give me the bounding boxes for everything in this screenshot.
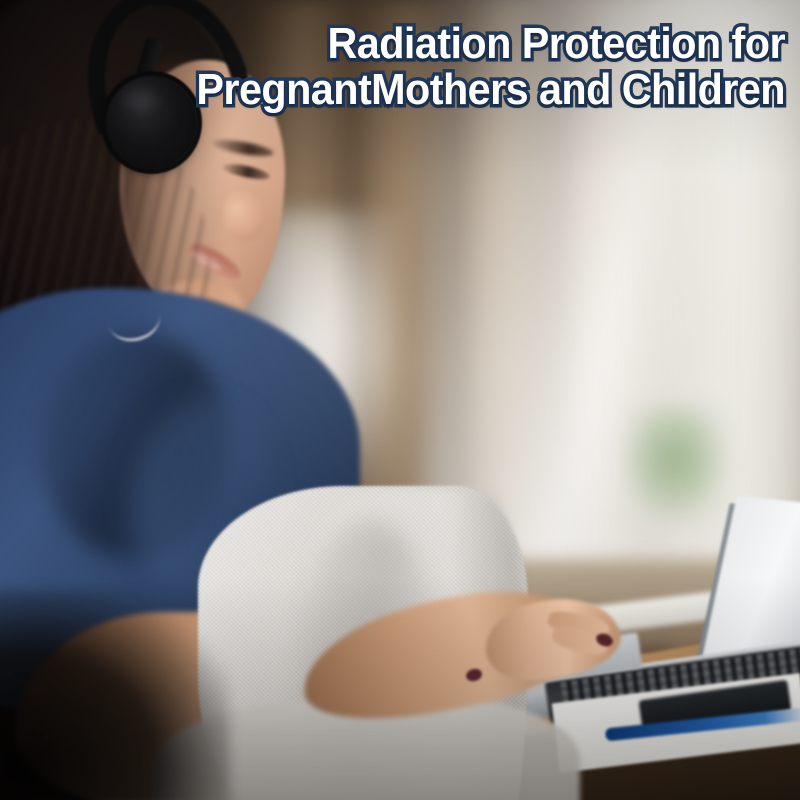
poster-canvas: Radiation Protection for PregnantMothers… bbox=[0, 0, 800, 800]
foreground-shadow bbox=[0, 590, 230, 800]
scene-photograph bbox=[0, 0, 800, 800]
houseplant bbox=[620, 405, 730, 525]
nose bbox=[224, 188, 266, 240]
headphone-highlight bbox=[120, 86, 160, 114]
